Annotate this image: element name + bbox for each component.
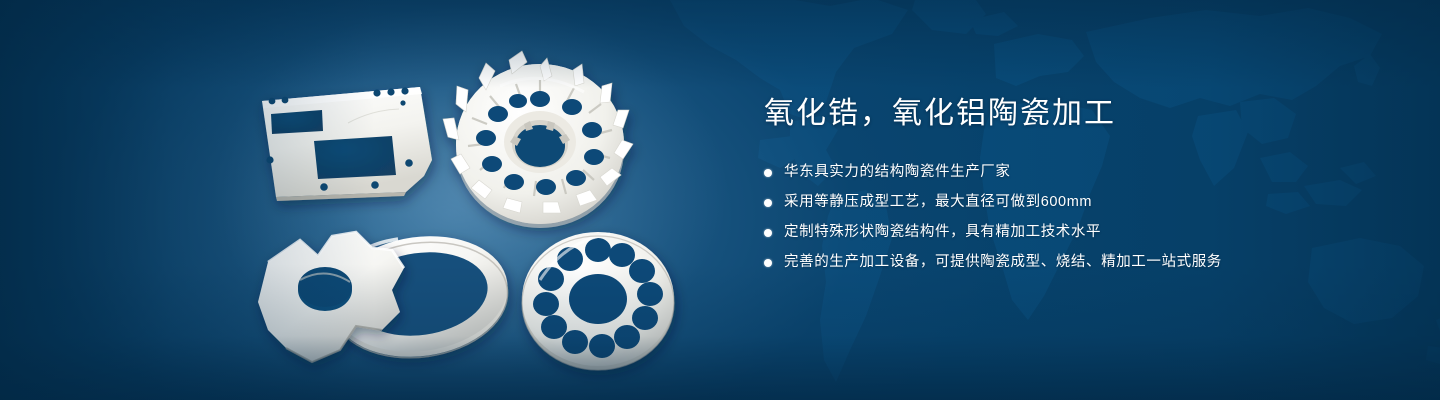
list-item-label: 完善的生产加工设备，可提供陶瓷成型、烧结、精加工一站式服务 xyxy=(784,252,1222,273)
product-banner: 氧化锆，氧化铝陶瓷加工 华东具实力的结构陶瓷件生产厂家 采用等静压成型工艺，最大… xyxy=(0,0,1440,400)
list-item: 华东具实力的结构陶瓷件生产厂家 xyxy=(764,162,1384,183)
page-title: 氧化锆，氧化铝陶瓷加工 xyxy=(764,96,1384,132)
bullet-dot-icon xyxy=(764,199,772,207)
list-item: 完善的生产加工设备，可提供陶瓷成型、烧结、精加工一站式服务 xyxy=(764,252,1384,273)
bullet-dot-icon xyxy=(764,259,772,267)
list-item-label: 定制特殊形状陶瓷结构件，具有精加工技术水平 xyxy=(784,222,1101,243)
feature-list: 华东具实力的结构陶瓷件生产厂家 采用等静压成型工艺，最大直径可做到600mm 定… xyxy=(764,162,1384,273)
bullet-dot-icon xyxy=(764,229,772,237)
bullet-dot-icon xyxy=(764,169,772,177)
list-item-label: 华东具实力的结构陶瓷件生产厂家 xyxy=(784,162,1011,183)
list-item: 采用等静压成型工艺，最大直径可做到600mm xyxy=(764,192,1384,213)
list-item: 定制特殊形状陶瓷结构件，具有精加工技术水平 xyxy=(764,222,1384,243)
banner-copy: 氧化锆，氧化铝陶瓷加工 华东具实力的结构陶瓷件生产厂家 采用等静压成型工艺，最大… xyxy=(764,96,1384,282)
list-item-label: 采用等静压成型工艺，最大直径可做到600mm xyxy=(784,192,1092,213)
